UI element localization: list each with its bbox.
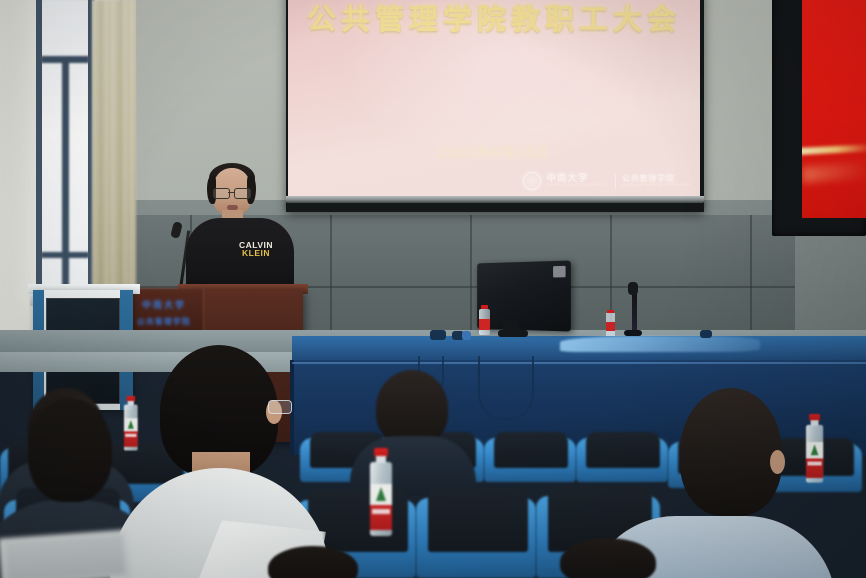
foreground-person-glasses bbox=[268, 400, 292, 414]
podium-nameplate-line1: 中南大学 bbox=[142, 298, 186, 311]
bottle-label bbox=[606, 322, 615, 331]
window bbox=[41, 0, 89, 300]
audience-head bbox=[28, 398, 112, 502]
curtain-shading bbox=[92, 0, 136, 316]
projection-screen-shadow bbox=[286, 203, 704, 209]
monitor-sticker bbox=[553, 266, 566, 278]
computer-monitor bbox=[477, 260, 571, 331]
bottle-label-text bbox=[372, 509, 390, 514]
laptop-screen bbox=[5, 534, 126, 578]
window-frame-left bbox=[36, 0, 42, 300]
glasses-lens bbox=[213, 188, 230, 199]
college-name: 公共管理学院 SCHOOL OF PUBLIC ADMINISTRATION bbox=[622, 175, 690, 187]
slide-date: 2025年6月18日 bbox=[288, 142, 700, 161]
foreground-person-head bbox=[680, 388, 782, 516]
side-display-screen bbox=[802, 0, 866, 218]
hanging-cable bbox=[478, 356, 534, 420]
projection-screen-bottom-bar bbox=[286, 196, 704, 203]
projection-screen: 公共管理学院教职工大会 2025年6月18日 中南大学 CENTRAL SOUT… bbox=[288, 0, 700, 196]
wall-seam bbox=[470, 215, 472, 345]
stage-edge-highlight bbox=[292, 362, 866, 364]
wall-seam bbox=[750, 215, 752, 345]
water-bottle bbox=[606, 310, 615, 336]
display-light-streak bbox=[802, 144, 866, 155]
bottle-label-text bbox=[808, 462, 822, 466]
bottle-label-text bbox=[125, 434, 136, 437]
wall-seam bbox=[330, 215, 332, 345]
tshirt-logo: CALVIN KLEIN bbox=[235, 238, 277, 260]
bottle-label bbox=[479, 319, 490, 330]
logo-divider bbox=[615, 174, 616, 189]
desk-object bbox=[430, 330, 446, 340]
university-name-en: CENTRAL SOUTH UNIVERSITY bbox=[547, 184, 609, 188]
desk-microphone-head bbox=[628, 282, 638, 295]
speaker-glasses bbox=[213, 188, 251, 197]
water-bottle bbox=[479, 305, 490, 335]
tshirt-logo-line2: KLEIN bbox=[242, 249, 270, 258]
podium-nameplate: 中南大学 公共管理学院 bbox=[124, 288, 204, 336]
desk-object bbox=[700, 330, 712, 338]
slide-title: 公共管理学院教职工大会 bbox=[288, 0, 700, 38]
lecture-hall-photo: 公共管理学院教职工大会 2025年6月18日 中南大学 CENTRAL SOUT… bbox=[0, 0, 866, 578]
seat-back bbox=[494, 432, 568, 468]
university-emblem-icon bbox=[523, 172, 541, 190]
glasses-lens bbox=[234, 188, 251, 199]
display-light-streak bbox=[802, 161, 866, 183]
desk-object bbox=[462, 331, 471, 340]
table-reflection bbox=[560, 336, 760, 352]
window-mullion bbox=[62, 62, 69, 300]
university-name: 中南大学 CENTRAL SOUTH UNIVERSITY bbox=[547, 174, 609, 188]
slide-logo-group: 中南大学 CENTRAL SOUTH UNIVERSITY 公共管理学院 SCH… bbox=[523, 172, 691, 190]
foreground-person-ear bbox=[770, 450, 785, 474]
laptop bbox=[0, 530, 132, 578]
monitor-stand bbox=[498, 330, 528, 337]
seat-back bbox=[586, 432, 660, 468]
seat-back bbox=[428, 488, 528, 552]
desk-microphone-base bbox=[624, 330, 642, 336]
college-name-en: SCHOOL OF PUBLIC ADMINISTRATION bbox=[622, 184, 690, 187]
podium-nameplate-line2: 公共管理学院 bbox=[137, 316, 191, 327]
